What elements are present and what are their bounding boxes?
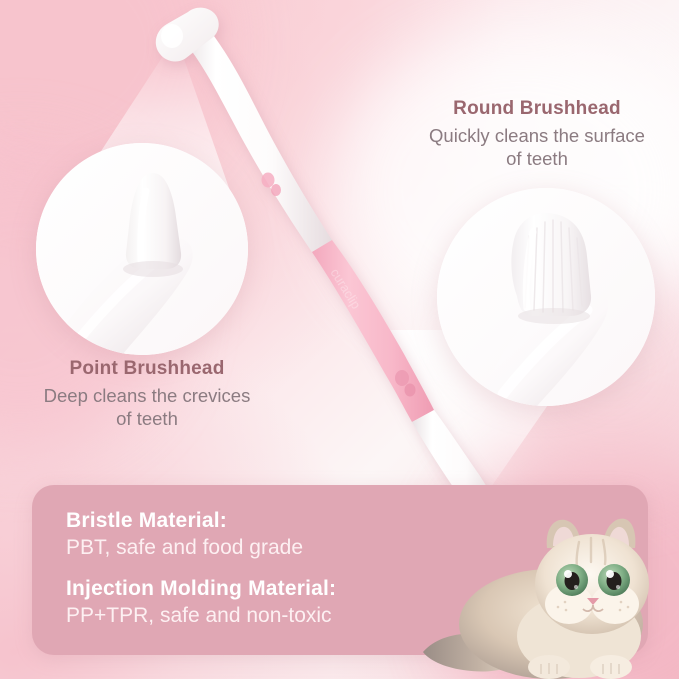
callout-round-heading: Round Brushhead	[398, 97, 676, 121]
callout-point-heading: Point Brushhead	[8, 357, 286, 381]
callout-round-line-2: of teeth	[398, 147, 676, 171]
callout-round-line-1: Quickly cleans the surface	[398, 124, 676, 148]
cat-mascot-image	[419, 504, 679, 679]
inset-round-brushhead	[437, 188, 655, 406]
callout-point-line-1: Deep cleans the crevices	[8, 384, 286, 408]
inset-point-brushhead	[36, 143, 248, 355]
callout-round-brushhead: Round Brushhead Quickly cleans the surfa…	[398, 97, 676, 171]
callout-point-brushhead: Point Brushhead Deep cleans the crevices…	[8, 357, 286, 431]
infographic-canvas: curaclip	[0, 0, 679, 679]
svg-text:curaclip: curaclip	[327, 266, 363, 312]
callout-point-line-2: of teeth	[8, 407, 286, 431]
